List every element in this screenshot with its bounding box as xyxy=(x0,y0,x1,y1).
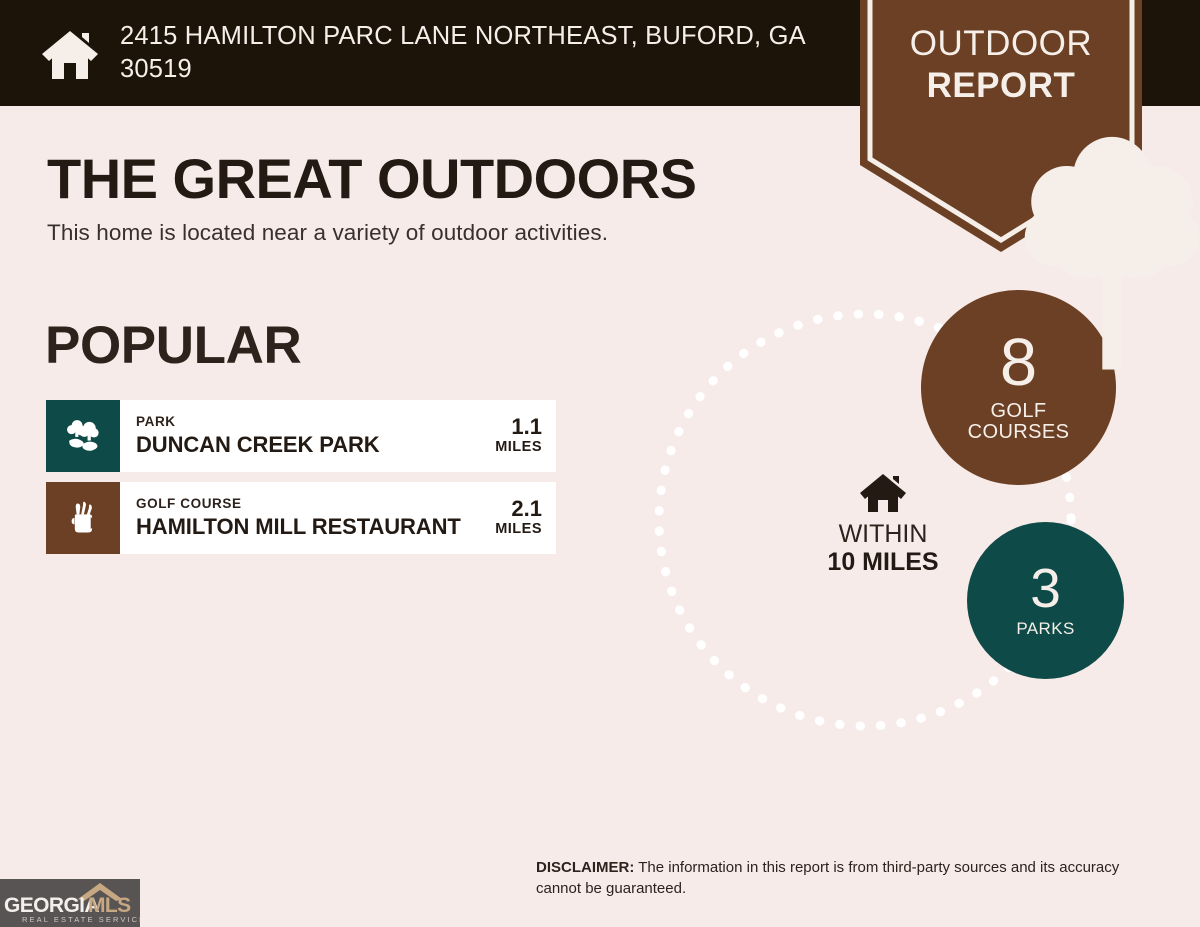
disclaimer-label: DISCLAIMER: xyxy=(536,859,634,876)
poi-distance: 1.1 MILES xyxy=(478,415,542,457)
page-title: THE GREAT OUTDOORS xyxy=(47,146,697,211)
stat-label: PARKS xyxy=(1016,620,1074,638)
list-item[interactable]: GOLF COURSE HAMILTON MILL RESTAURANT 2.1… xyxy=(46,482,556,554)
poi-category: PARK xyxy=(136,414,478,431)
radius-label: 10 MILES xyxy=(803,548,963,577)
badge-line-2: REPORT xyxy=(860,68,1142,103)
poi-distance: 2.1 MILES xyxy=(478,497,542,539)
badge-title-block: OUTDOOR REPORT xyxy=(860,26,1142,103)
logo-name-primary: GEORGIA xyxy=(4,894,99,917)
popular-poi-list: PARK DUNCAN CREEK PARK 1.1 MILES xyxy=(46,400,556,564)
logo-name-secondary: MLS xyxy=(88,894,131,917)
park-trees-icon xyxy=(46,400,120,472)
home-icon xyxy=(858,470,908,514)
list-item-body: PARK DUNCAN CREEK PARK 1.1 MILES xyxy=(120,400,556,472)
popular-heading: POPULAR xyxy=(45,315,301,376)
badge-line-1: OUTDOOR xyxy=(860,26,1142,61)
logo-tagline: REAL ESTATE SERVICES xyxy=(22,915,140,924)
stat-label-line-2: COURSES xyxy=(968,422,1070,444)
page-subtitle: This home is located near a variety of o… xyxy=(47,220,608,246)
within-label: WITHIN xyxy=(803,521,963,548)
poi-distance-value: 1.1 xyxy=(478,415,542,439)
stat-label-line-1: GOLF xyxy=(968,401,1070,423)
home-icon xyxy=(38,21,102,85)
stat-label-line-1: PARKS xyxy=(1016,620,1074,638)
golf-bag-icon xyxy=(46,482,120,554)
tree-icon xyxy=(971,124,1031,202)
poi-name: DUNCAN CREEK PARK xyxy=(136,432,478,457)
stat-label: GOLF COURSES xyxy=(968,401,1070,444)
outdoor-report-badge: OUTDOOR REPORT xyxy=(860,0,1142,252)
property-address: 2415 HAMILTON PARC LANE NORTHEAST, BUFOR… xyxy=(120,20,810,85)
poi-name: HAMILTON MILL RESTAURANT xyxy=(136,514,478,539)
stat-value: 3 xyxy=(1030,562,1061,614)
poi-distance-unit: MILES xyxy=(478,439,542,456)
list-item-body: GOLF COURSE HAMILTON MILL RESTAURANT 2.1… xyxy=(120,482,556,554)
poi-category: GOLF COURSE xyxy=(136,496,478,513)
stat-circle-parks[interactable]: 3 PARKS xyxy=(967,522,1124,679)
poi-distance-value: 2.1 xyxy=(478,497,542,521)
poi-distance-unit: MILES xyxy=(478,521,542,538)
disclaimer: DISCLAIMER: The information in this repo… xyxy=(536,858,1161,899)
within-radius-center: WITHIN 10 MILES xyxy=(803,470,963,577)
georgia-mls-logo: GEORGIA MLS REAL ESTATE SERVICES xyxy=(0,879,140,927)
list-item[interactable]: PARK DUNCAN CREEK PARK 1.1 MILES xyxy=(46,400,556,472)
